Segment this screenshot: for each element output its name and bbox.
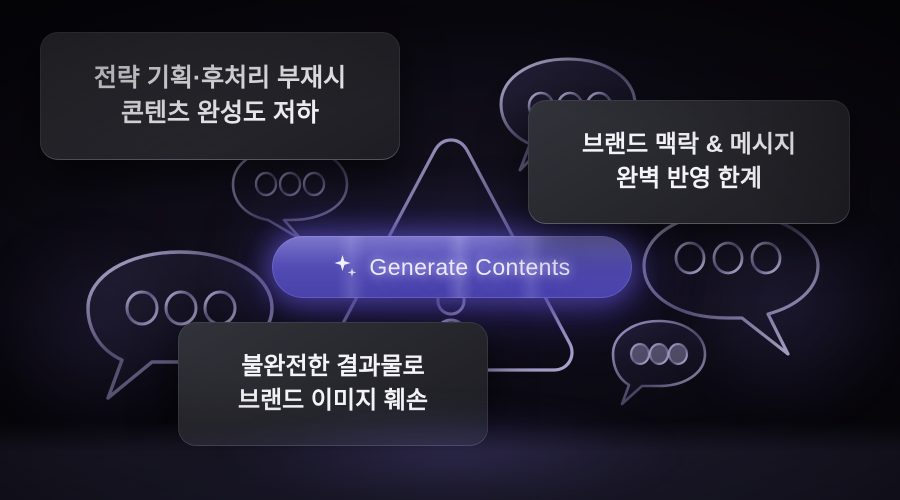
scene-canvas: Generate Contents 전략 기획·후처리 부재시 콘텐츠 완성도 … xyxy=(0,0,900,500)
vignette-overlay xyxy=(0,0,900,500)
